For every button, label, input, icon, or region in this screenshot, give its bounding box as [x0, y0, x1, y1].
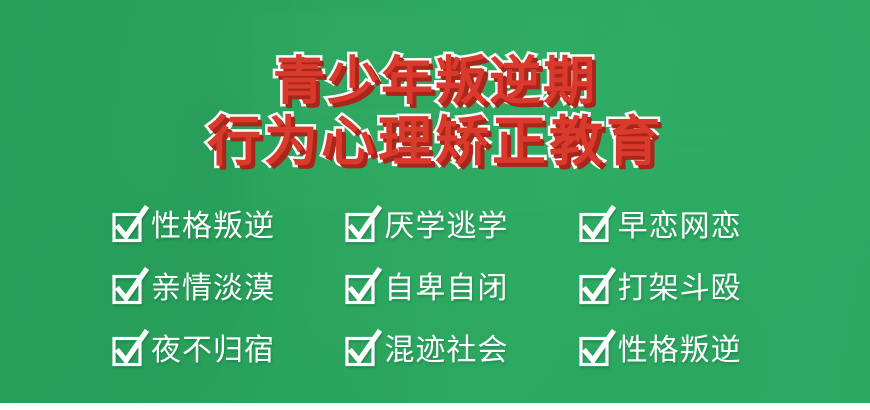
checked-checkbox-icon[interactable] — [112, 274, 142, 304]
checked-checkbox-icon[interactable] — [112, 336, 142, 366]
bottom-white-strip — [0, 403, 870, 410]
checklist-item-label: 打架斗殴 — [618, 273, 742, 305]
checklist-item-7[interactable]: 夜不归宿 — [112, 320, 345, 382]
checked-checkbox-icon[interactable] — [579, 274, 609, 304]
checked-checkbox-icon[interactable] — [112, 212, 142, 242]
checklist-item-label: 自卑自闭 — [384, 273, 508, 305]
promo-banner: 青少年叛逆期 行为心理矫正教育 性格叛逆 — [0, 0, 870, 410]
checklist-item-3[interactable]: 早恋网恋 — [579, 196, 812, 258]
checklist-item-9[interactable]: 性格叛逆 — [579, 320, 812, 382]
checklist-item-6[interactable]: 打架斗殴 — [579, 258, 812, 320]
headline-line-2: 行为心理矫正教育 — [0, 112, 870, 172]
banner-content: 青少年叛逆期 行为心理矫正教育 性格叛逆 — [0, 0, 870, 410]
checklist-item-label: 亲情淡漠 — [151, 273, 275, 305]
checked-checkbox-icon[interactable] — [579, 336, 609, 366]
checklist-grid: 性格叛逆 厌学逃学 早恋网恋 — [112, 196, 812, 382]
checked-checkbox-icon[interactable] — [579, 212, 609, 242]
checklist-item-1[interactable]: 性格叛逆 — [112, 196, 345, 258]
checklist-item-5[interactable]: 自卑自闭 — [345, 258, 578, 320]
headline-block: 青少年叛逆期 行为心理矫正教育 — [0, 52, 870, 172]
checklist-item-label: 厌学逃学 — [384, 211, 508, 243]
checklist-item-label: 夜不归宿 — [151, 335, 275, 367]
checked-checkbox-icon[interactable] — [345, 274, 375, 304]
checklist-item-label: 混迹社会 — [384, 335, 508, 367]
checklist-item-2[interactable]: 厌学逃学 — [345, 196, 578, 258]
checklist-item-8[interactable]: 混迹社会 — [345, 320, 578, 382]
checklist-item-4[interactable]: 亲情淡漠 — [112, 258, 345, 320]
checked-checkbox-icon[interactable] — [345, 212, 375, 242]
headline-line-1: 青少年叛逆期 — [0, 52, 870, 112]
checked-checkbox-icon[interactable] — [345, 336, 375, 366]
checklist-item-label: 性格叛逆 — [151, 211, 275, 243]
checklist-item-label: 早恋网恋 — [618, 211, 742, 243]
checklist-item-label: 性格叛逆 — [618, 335, 742, 367]
